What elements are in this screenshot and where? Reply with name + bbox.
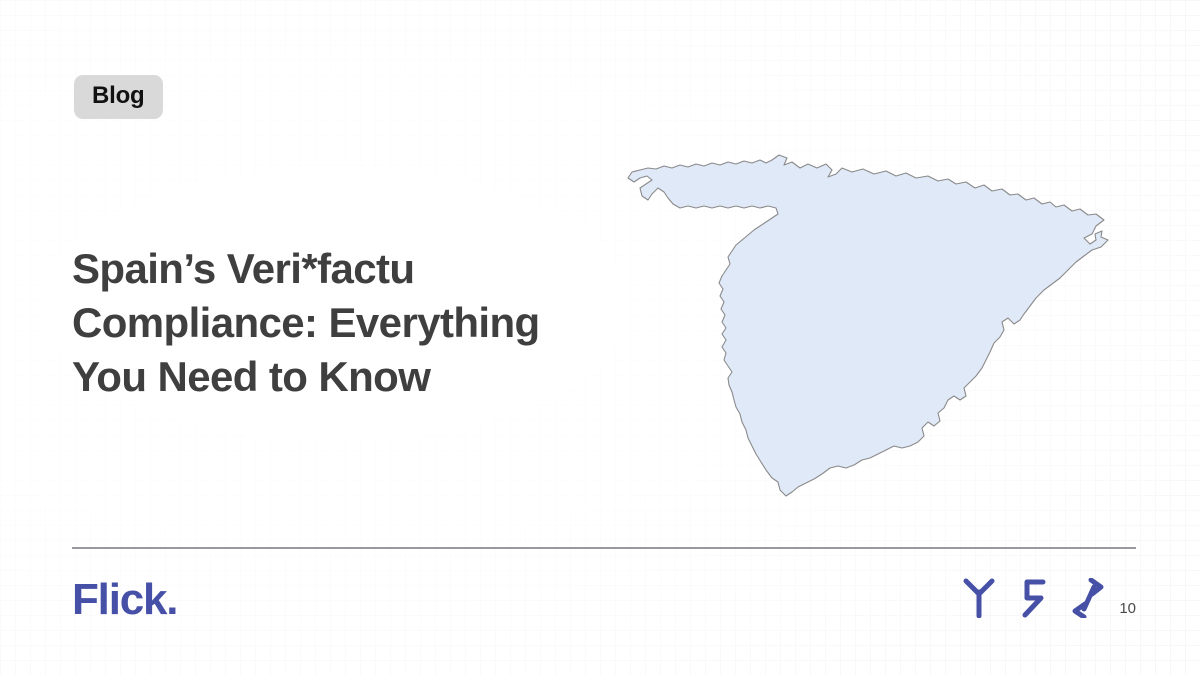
mainland-spain-path [628,155,1108,496]
double-chevron-icon [1069,578,1105,618]
blog-badge: Blog [74,75,163,119]
algiz-rune-icon [961,578,997,618]
spain-map-svg [556,138,1176,558]
footer-divider [72,547,1136,549]
spain-map [556,138,1176,558]
page-number: 10 [1119,601,1136,618]
flick-logo: Flick. [72,578,177,622]
lightning-bolt-rune-icon [1015,578,1051,618]
page-title: Spain’s Veri*factu Compliance: Everythin… [72,242,632,403]
slide-root: Blog Spain’s Veri*factu Compliance: Ever… [0,0,1200,675]
footer-icon-group: 10 [961,578,1136,618]
